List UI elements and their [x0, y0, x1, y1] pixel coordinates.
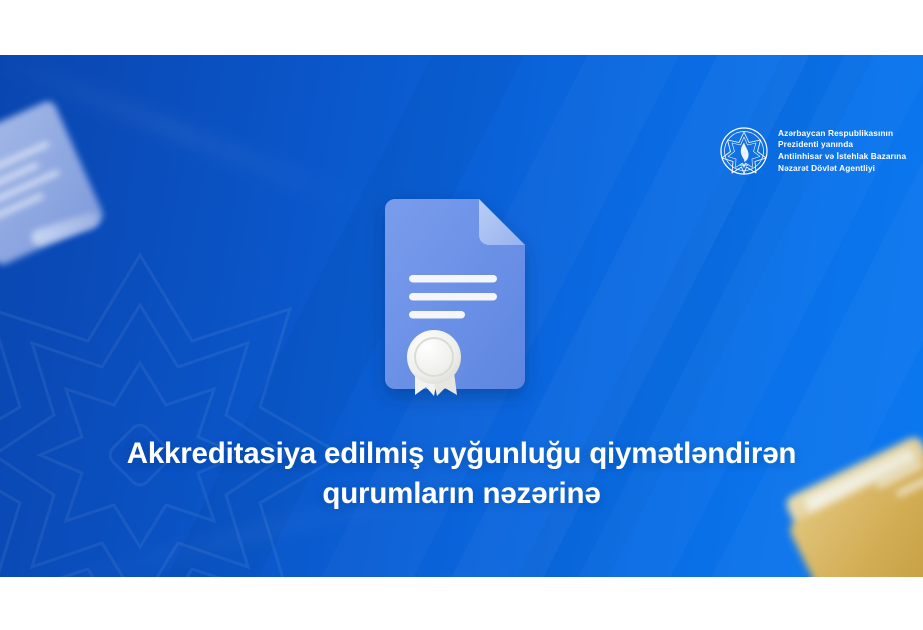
agency-logo-text: Azərbaycan Respublikasının Prezidenti ya…	[778, 128, 906, 174]
light-sweep	[123, 563, 548, 577]
screenshot-stage: Azərbaycan Respublikasının Prezidenti ya…	[0, 0, 923, 630]
headline-line-2: qurumların nəzərinə	[0, 474, 923, 514]
agency-logo-line-3: Antiinhisar və İstehlak Bazarına	[778, 151, 906, 161]
headline-line-1: Akkreditasiya edilmiş uyğunluğu qiymətlə…	[127, 437, 796, 470]
decorative-document-prop	[0, 99, 106, 268]
agency-logo: Azərbaycan Respublikasının Prezidenti ya…	[719, 126, 906, 176]
azerbaijan-state-emblem-icon	[719, 126, 769, 176]
hero-banner: Azərbaycan Respublikasının Prezidenti ya…	[0, 55, 923, 577]
agency-logo-line-4: Nəzarət Dövlət Agentliyi	[778, 163, 875, 173]
agency-logo-line-1: Azərbaycan Respublikasının	[778, 128, 893, 138]
page-title: Akkreditasiya edilmiş uyğunluğu qiymətlə…	[0, 434, 923, 514]
certificate-document-icon	[379, 197, 531, 397]
star-pattern-watermark	[0, 245, 350, 577]
agency-logo-line-2: Prezidenti yanında	[778, 139, 853, 149]
